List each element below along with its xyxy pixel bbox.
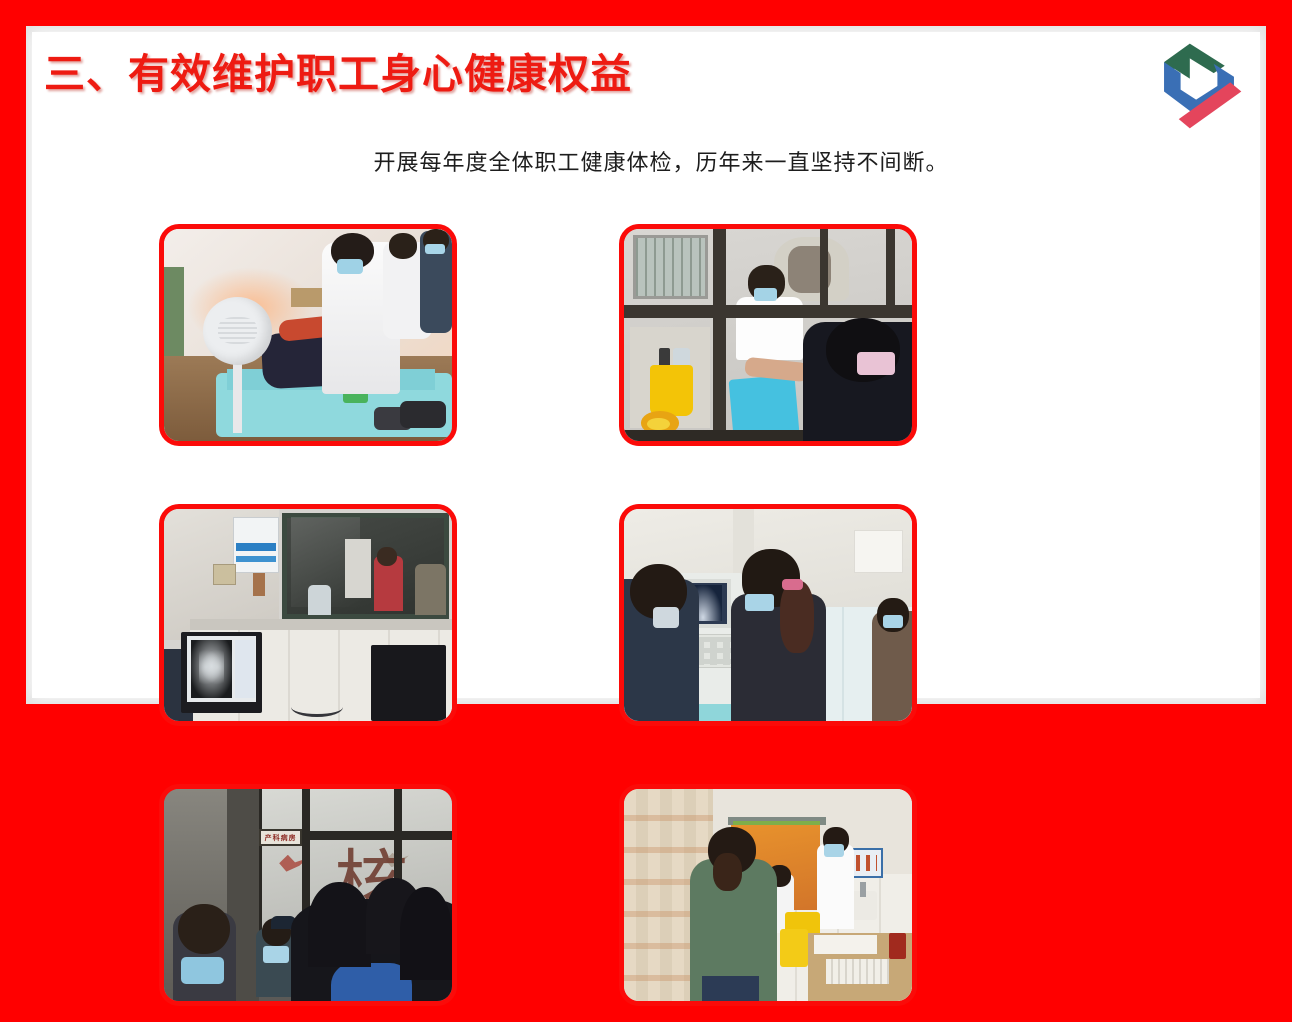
photo-5-scene: 核 产科病房 <box>164 789 452 1001</box>
photo-2-scene <box>624 229 912 441</box>
photo-grid: 核 产科病房 <box>119 208 1179 1022</box>
company-logo <box>1153 37 1245 135</box>
page-title: 三、有效维护职工身心健康权益 <box>44 40 632 100</box>
subtitle-text: 开展每年度全体职工健康体检，历年来一直坚持不间断。 <box>32 145 1260 177</box>
chest-xray-image <box>191 640 231 697</box>
photo-5-waiting-hall-queue: 核 产科病房 <box>159 784 457 1006</box>
photo-1-scene <box>164 229 452 441</box>
slide-content-area: 三、有效维护职工身心健康权益 开展每年度全体职工健康体检，历年来一直坚持不间断。 <box>32 32 1260 698</box>
photo-3-xray-radiology-room <box>159 504 457 726</box>
photo-2-blood-collection-window <box>619 224 917 446</box>
photo-4-scene <box>624 509 912 721</box>
door-sign: 产科病房 <box>259 829 302 846</box>
photo-6-scene <box>624 789 912 1001</box>
photo-1-health-checkup-blood-draw <box>159 224 457 446</box>
photo-6-specimen-collection-room <box>619 784 917 1006</box>
door-sign-label: 产科病房 <box>265 833 297 843</box>
slide-canvas: 三、有效维护职工身心健康权益 开展每年度全体职工健康体检，历年来一直坚持不间断。 <box>26 26 1266 704</box>
slide-red-border: 三、有效维护职工身心健康权益 开展每年度全体职工健康体检，历年来一直坚持不间断。 <box>0 0 1292 730</box>
photo-4-ultrasound-examination <box>619 504 917 726</box>
photo-3-scene <box>164 509 452 721</box>
